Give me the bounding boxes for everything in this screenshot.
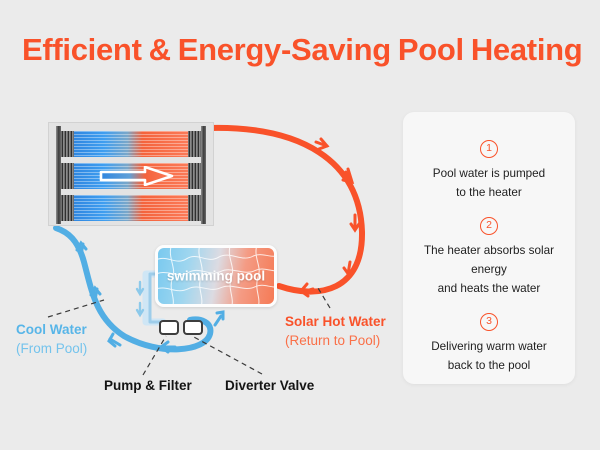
collector-manifold-right — [188, 195, 201, 221]
leader-valve — [192, 336, 262, 374]
solar-collector — [48, 122, 214, 226]
drain-flow-arrows — [137, 282, 143, 315]
collector-tubes — [74, 195, 188, 221]
step-item: 1 Pool water is pumped to the heater — [403, 138, 575, 202]
hot-flow-arrows — [301, 139, 359, 296]
step-text-line2: to the heater — [403, 183, 575, 202]
page-title: Efficient&Energy-SavingPoolHeating — [22, 32, 582, 68]
step-item: 2 The heater absorbs solar energy and he… — [403, 215, 575, 298]
step-text-line2: and heats the water — [403, 279, 575, 298]
step-number-badge: 1 — [480, 140, 498, 158]
infographic-canvas: Efficient&Energy-SavingPoolHeating — [0, 0, 600, 450]
title-word-3: Energy-Saving — [178, 32, 391, 67]
leader-cool-water — [48, 300, 104, 317]
cool-water-label: Cool Water (From Pool) — [16, 320, 87, 358]
flow-direction-arrow-icon — [99, 166, 174, 186]
step-text-line1: The heater absorbs solar energy — [403, 241, 575, 279]
pump-filter-label: Pump & Filter — [104, 378, 192, 393]
hot-water-label-line2: (Return to Pool) — [285, 331, 386, 350]
diverter-valve-label: Diverter Valve — [225, 378, 314, 393]
step-item: 3 Delivering warm water back to the pool — [403, 311, 575, 375]
step-text-line2: back to the pool — [403, 356, 575, 375]
collector-row — [61, 131, 201, 157]
step-text-line1: Pool water is pumped — [403, 164, 575, 183]
collector-manifold-left — [61, 195, 74, 221]
swimming-pool: swimming pool — [155, 245, 277, 307]
pump-filter-box[interactable] — [159, 320, 179, 335]
step-text-line1: Delivering warm water — [403, 337, 575, 356]
steps-card: 1 Pool water is pumped to the heater 2 T… — [403, 112, 575, 384]
collector-manifold-right — [188, 131, 201, 157]
collector-manifold-left — [61, 131, 74, 157]
title-word-2: & — [149, 32, 171, 67]
step-number-badge: 3 — [480, 313, 498, 331]
title-word-4: Pool — [398, 32, 464, 67]
leader-pump — [143, 336, 166, 375]
hot-water-label-line1: Solar Hot Water — [285, 312, 386, 331]
step-number-badge: 2 — [480, 217, 498, 235]
title-word-1: Efficient — [22, 32, 142, 67]
collector-tubes — [74, 131, 188, 157]
cool-water-label-line1: Cool Water — [16, 320, 87, 339]
cool-water-label-line2: (From Pool) — [16, 339, 87, 358]
collector-rail-right — [201, 126, 206, 224]
hot-water-label: Solar Hot Water (Return to Pool) — [285, 312, 386, 350]
leader-hot-water — [318, 288, 330, 308]
collector-manifold-left — [61, 163, 74, 189]
diverter-valve-box[interactable] — [183, 320, 203, 335]
pool-label: swimming pool — [158, 269, 274, 284]
collector-manifold-right — [188, 163, 201, 189]
title-word-5: Heating — [471, 32, 583, 67]
collector-row — [61, 195, 201, 221]
